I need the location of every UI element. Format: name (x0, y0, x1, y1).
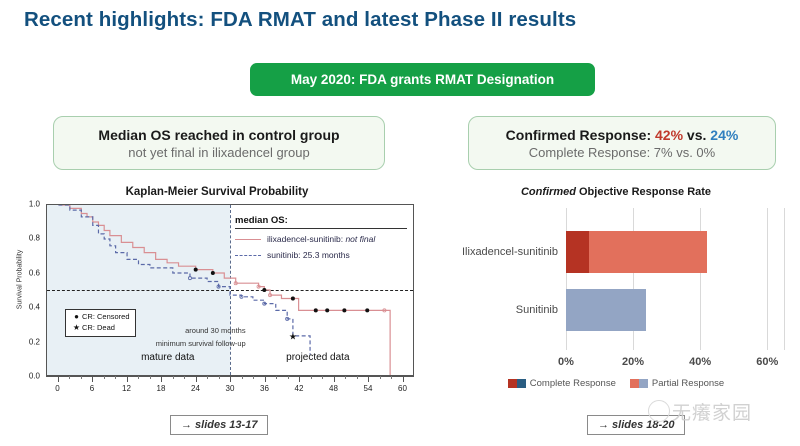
callout-response-value-b: 24% (710, 127, 738, 143)
response-rate-legend: Complete Response Partial Response (440, 378, 792, 389)
annotation-followup-line1: around 30 months (185, 326, 245, 335)
callout-response-prefix: Confirmed Response: (506, 127, 655, 143)
km-x-tick-label: 30 (226, 384, 235, 393)
km-y-tick: 0.6 (29, 268, 40, 277)
km-x-tick-minor (345, 376, 346, 379)
kaplan-meier-y-ticks: 1.00.80.60.40.20.0 (16, 204, 44, 376)
cr-legend-censored: ● CR: Censored (71, 312, 130, 323)
bar-segment (566, 289, 646, 331)
km-x-tick-label: 36 (260, 384, 269, 393)
cr-censored-marker-icon (314, 308, 318, 312)
callout-confirmed-response-main: Confirmed Response: 42% vs. 24% (506, 127, 739, 143)
response-rate-plot-area: Ilixadencel-sunitinibSunitinib (440, 208, 792, 350)
legend-swatch (630, 379, 639, 388)
km-x-tick-label: 0 (55, 384, 59, 393)
kaplan-meier-chart: Kaplan-Meier Survival Probability Surviv… (8, 186, 426, 401)
km-x-tick-minor (173, 376, 174, 379)
bar-x-tick-label: 60% (756, 356, 778, 368)
kaplan-meier-plot-area: ★ median OS: ilixadencel-sunitinib: not … (46, 204, 414, 376)
legend-item-ilixadencel-label: ilixadencel-sunitinib: not final (267, 234, 375, 244)
km-x-tick-major (127, 376, 128, 382)
km-x-tick-major (92, 376, 93, 382)
km-x-tick-minor (391, 376, 392, 379)
cr-legend-censored-label: CR: Censored (82, 312, 130, 322)
km-x-tick-minor (115, 376, 116, 379)
km-x-tick-minor (104, 376, 105, 379)
bar-segment (566, 231, 589, 273)
bar-grid-line (700, 208, 701, 350)
km-x-tick-major (403, 376, 404, 382)
km-x-tick-minor (207, 376, 208, 379)
km-x-tick-label: 54 (364, 384, 373, 393)
km-x-tick-minor (357, 376, 358, 379)
km-x-tick-major (299, 376, 300, 382)
cr-censored-marker-icon (342, 308, 346, 312)
legend-item-ilixadencel: ilixadencel-sunitinib: not final (235, 234, 407, 244)
annotation-mature-data: mature data (141, 352, 194, 363)
slide-root: Recent highlights: FDA RMAT and latest P… (0, 0, 800, 446)
callout-response-vs: vs. (683, 127, 710, 143)
callout-complete-response-sub: Complete Response: 7% vs. 0% (529, 145, 715, 160)
cr-censored-marker-icon (325, 308, 329, 312)
km-x-tick-minor (150, 376, 151, 379)
km-x-tick-label: 42 (295, 384, 304, 393)
km-x-tick-minor (253, 376, 254, 379)
km-y-tick: 0.4 (29, 303, 40, 312)
legend-swatch (508, 379, 517, 388)
cr-legend-dead: ★ CR: Dead (71, 323, 130, 334)
km-x-tick-label: 48 (329, 384, 338, 393)
kaplan-meier-title: Kaplan-Meier Survival Probability (8, 186, 426, 198)
cr-status-legend: ● CR: Censored ★ CR: Dead (65, 309, 136, 337)
cr-legend-dead-label: CR: Dead (82, 323, 115, 333)
km-y-tick: 0.0 (29, 372, 40, 381)
complete-response-swatch-icon (508, 379, 526, 388)
km-x-tick-major (58, 376, 59, 382)
bar-category-label: Ilixadencel-sunitinib (462, 246, 566, 258)
legend-partial-response-label: Partial Response (652, 378, 724, 389)
km-x-tick-major (265, 376, 266, 382)
km-x-tick-label: 12 (122, 384, 131, 393)
cr-censored-marker-icon (194, 268, 198, 272)
legend-swatch (517, 379, 526, 388)
legend-complete-response: Complete Response (508, 378, 616, 389)
km-x-tick-minor (69, 376, 70, 379)
km-x-tick-minor (81, 376, 82, 379)
response-rate-x-axis: 0%20%40%60% (440, 356, 792, 374)
bar-grid-line (767, 208, 768, 350)
legend-complete-response-label: Complete Response (530, 378, 616, 389)
km-x-tick-major (161, 376, 162, 382)
legend-swatch (639, 379, 648, 388)
median-os-legend-title: median OS: (235, 215, 407, 228)
callout-response-value-a: 42% (655, 127, 683, 143)
km-x-tick-major (196, 376, 197, 382)
bar-segment (589, 231, 706, 273)
cr-censored-marker-icon (211, 271, 215, 275)
km-x-tick-label: 24 (191, 384, 200, 393)
callout-confirmed-response: Confirmed Response: 42% vs. 24% Complete… (468, 116, 776, 170)
response-rate-chart: Confirmed Objective Response Rate Ilixad… (440, 186, 792, 401)
legend-partial-response: Partial Response (630, 378, 724, 389)
slide-ref-left[interactable]: → slides 13-17 (170, 415, 268, 435)
km-y-tick: 1.0 (29, 200, 40, 209)
cr-censored-marker-icon (291, 297, 295, 301)
km-y-tick: 0.8 (29, 234, 40, 243)
bar-x-tick-label: 40% (689, 356, 711, 368)
median-os-legend-rule (235, 228, 407, 229)
cr-censored-marker-icon (262, 288, 266, 292)
km-x-tick-major (230, 376, 231, 382)
slide-ref-right[interactable]: → slides 18-20 (587, 415, 685, 435)
line-swatch-solid-icon (235, 235, 261, 244)
km-x-tick-minor (184, 376, 185, 379)
callout-median-os-main: Median OS reached in control group (98, 127, 339, 143)
bar-x-tick-label: 0% (558, 356, 574, 368)
partial-response-swatch-icon (630, 379, 648, 388)
censored-dot-icon: ● (71, 312, 82, 323)
watermark-circle-icon (648, 400, 670, 422)
km-x-tick-minor (276, 376, 277, 379)
response-rate-title: Confirmed Objective Response Rate (440, 186, 792, 198)
km-x-tick-major (368, 376, 369, 382)
cr-censored-marker-icon (365, 308, 369, 312)
km-x-tick-label: 18 (157, 384, 166, 393)
rmat-banner: May 2020: FDA grants RMAT Designation (250, 63, 595, 96)
response-rate-title-italic: Confirmed (521, 186, 576, 198)
bar-category-label: Sunitinib (516, 304, 566, 316)
km-x-tick-minor (219, 376, 220, 379)
km-x-tick-minor (322, 376, 323, 379)
kaplan-meier-x-axis: 06121824303642485460 (46, 376, 414, 398)
page-title: Recent highlights: FDA RMAT and latest P… (24, 8, 576, 32)
callout-median-os-sub: not yet final in ilixadencel group (128, 145, 309, 160)
km-x-tick-minor (380, 376, 381, 379)
dead-star-icon: ★ (71, 323, 82, 334)
response-rate-title-rest: Objective Response Rate (576, 186, 711, 198)
km-x-tick-minor (242, 376, 243, 379)
bar-x-tick-label: 20% (622, 356, 644, 368)
bar-grid-line (784, 208, 785, 350)
annotation-projected-data: projected data (286, 352, 349, 363)
cr-dead-marker-icon: ★ (289, 331, 297, 341)
legend-item-sunitinib: sunitinib: 25.3 months (235, 250, 407, 260)
km-x-tick-label: 6 (90, 384, 94, 393)
km-x-tick-minor (288, 376, 289, 379)
km-x-tick-major (334, 376, 335, 382)
rmat-banner-label: May 2020: FDA grants RMAT Designation (291, 72, 554, 87)
annotation-followup-line2: minimum survival follow-up (156, 339, 246, 348)
legend-item-sunitinib-label: sunitinib: 25.3 months (267, 250, 350, 260)
km-y-tick: 0.2 (29, 337, 40, 346)
watermark-text: 无癢家园 (672, 398, 752, 425)
median-os-legend: median OS: ilixadencel-sunitinib: not fi… (235, 215, 407, 266)
km-x-tick-label: 60 (398, 384, 407, 393)
km-x-tick-minor (138, 376, 139, 379)
km-x-tick-minor (311, 376, 312, 379)
callout-median-os: Median OS reached in control group not y… (53, 116, 385, 170)
line-swatch-dashed-icon (235, 251, 261, 260)
